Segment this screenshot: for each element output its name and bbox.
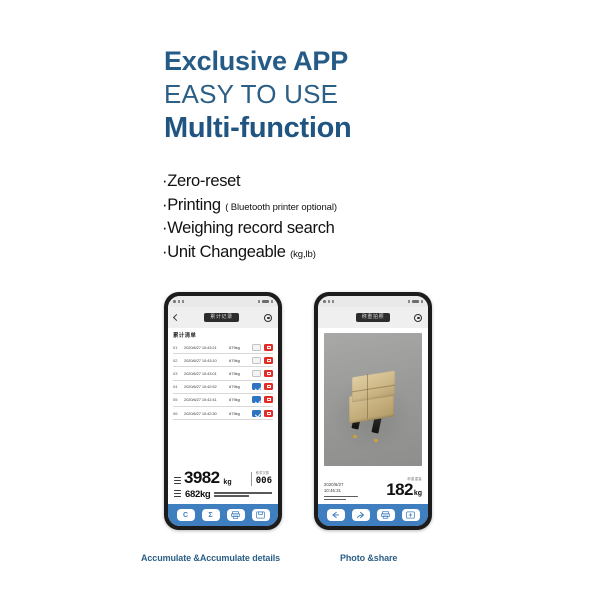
gear-icon[interactable] <box>264 314 272 322</box>
signal-bar-icon <box>178 300 180 303</box>
network-icon <box>421 300 423 303</box>
photo-info-panel: 2020/6/27 10:45:31 称重重量 182kg <box>318 471 428 504</box>
headline-line-3: Multi-function <box>164 110 351 146</box>
summary-sub-row: 682kg <box>174 489 272 500</box>
photo-date: 2020/6/27 <box>324 482 358 487</box>
sub-weight-value: 682kg <box>185 489 210 500</box>
phone-mockup-right: 称重拍照 2020/6/27 10:45:31 <box>314 292 432 530</box>
photo-meta: 2020/6/27 10:45:31 <box>324 482 358 500</box>
photo-weight-group: 称重重量 182kg <box>386 476 422 500</box>
row-index: 02 <box>173 358 181 363</box>
delete-button[interactable] <box>264 344 273 351</box>
alarm-icon <box>258 300 260 303</box>
total-weight-group: 3982 kg <box>174 470 232 486</box>
clear-c-icon[interactable]: C <box>177 509 195 521</box>
status-right-icons <box>258 300 273 304</box>
app-header-right: 称重拍照 <box>318 307 428 328</box>
app-title-right: 称重拍照 <box>356 313 390 322</box>
save-icon[interactable] <box>252 509 270 521</box>
table-row[interactable]: 04 2020/6/27 10:42:52 679kg <box>173 381 273 394</box>
screen-accumulate: 累计记录 累计清单 01 2020/6/27 10:43:21 679kg 02… <box>168 296 278 526</box>
photo-weight-row: 182kg <box>386 482 422 500</box>
share-arrow-icon[interactable] <box>352 509 370 521</box>
delete-button[interactable] <box>264 370 273 377</box>
row-datetime: 2020/6/27 10:42:30 <box>184 411 226 416</box>
row-datetime: 2020/6/27 10:43:01 <box>184 371 226 376</box>
table-row[interactable]: 01 2020/6/27 10:43:21 679kg <box>173 341 273 354</box>
row-checkbox[interactable] <box>252 370 261 377</box>
back-arrow-icon[interactable] <box>327 509 345 521</box>
table-row[interactable]: 05 2020/6/27 10:42:41 679kg <box>173 394 273 407</box>
screen-photo-share: 称重拍照 2020/6/27 10:45:31 <box>318 296 428 526</box>
row-index: 04 <box>173 384 181 389</box>
status-right-icons <box>408 300 423 304</box>
row-checkbox[interactable] <box>252 396 261 403</box>
printer-icon[interactable] <box>377 509 395 521</box>
bottom-toolbar-right <box>318 504 428 526</box>
row-weight: 679kg <box>229 371 249 376</box>
signal-dot-icon <box>173 300 176 303</box>
signal-dot-icon <box>323 300 326 303</box>
delete-button[interactable] <box>264 396 273 403</box>
scale-foot-icon <box>374 439 378 442</box>
sub-label-icon <box>174 490 181 497</box>
feature-label: Printing <box>167 196 221 214</box>
row-datetime: 2020/6/27 10:43:21 <box>184 345 226 350</box>
status-left-icons <box>323 300 334 303</box>
delete-button[interactable] <box>264 357 273 364</box>
status-bar <box>318 296 428 307</box>
row-weight: 679kg <box>229 397 249 402</box>
network-icon <box>271 300 273 303</box>
row-datetime: 2020/6/27 10:42:41 <box>184 397 226 402</box>
phone-mockup-left: 累计记录 累计清单 01 2020/6/27 10:43:21 679kg 02… <box>164 292 282 530</box>
wifi-icon <box>182 300 184 303</box>
gear-icon[interactable] <box>414 314 422 322</box>
feature-note: (kg,lb) <box>290 249 316 260</box>
caption-right: Photo &share <box>340 553 397 563</box>
chevron-left-icon[interactable] <box>173 314 180 321</box>
row-checkbox[interactable] <box>252 383 261 390</box>
feature-item-printing: ·Printing ( Bluetooth printer optional) <box>162 194 337 218</box>
photo-preview-wrap <box>318 328 428 471</box>
total-weight-value: 3982 <box>184 470 219 486</box>
status-bar <box>168 296 278 307</box>
list-title: 累计清单 <box>173 331 273 339</box>
row-checkbox[interactable] <box>252 344 261 351</box>
scale-foot-icon <box>353 435 357 438</box>
headline-line-1: Exclusive APP <box>164 45 351 78</box>
feature-label: Weighing record search <box>167 219 334 237</box>
row-index: 06 <box>173 411 181 416</box>
photo-weight-value: 182 <box>386 480 413 499</box>
summary-total-row: 3982 kg 称重次数 006 <box>174 470 272 486</box>
sigma-accumulate-icon[interactable]: Σ <box>202 509 220 521</box>
delete-button[interactable] <box>264 410 273 417</box>
row-checkbox[interactable] <box>252 410 261 417</box>
row-weight: 679kg <box>229 384 249 389</box>
photo-preview[interactable] <box>324 333 422 466</box>
feature-label: Zero-reset <box>167 172 240 190</box>
row-datetime: 2020/6/27 10:42:52 <box>184 384 226 389</box>
feature-label: Unit Changeable <box>167 243 285 261</box>
total-label-icon <box>174 477 181 484</box>
headline-line-2: EASY TO USE <box>164 78 351 111</box>
photo-note <box>324 496 358 500</box>
summary-note <box>214 492 272 496</box>
row-index: 03 <box>173 371 181 376</box>
add-photo-icon[interactable] <box>402 509 420 521</box>
wifi-icon <box>332 300 334 303</box>
feature-item-zero-reset: ·Zero-reset <box>162 170 337 194</box>
feature-item-unit-changeable: ·Unit Changeable (kg,lb) <box>162 241 337 265</box>
headline-block: Exclusive APP EASY TO USE Multi-function <box>164 45 351 147</box>
row-weight: 679kg <box>229 358 249 363</box>
feature-item-record-search: ·Weighing record search <box>162 217 337 241</box>
table-row[interactable]: 03 2020/6/27 10:43:01 679kg <box>173 367 273 380</box>
total-weight-unit: kg <box>223 479 231 486</box>
photo-weight-unit: kg <box>414 490 422 497</box>
table-row[interactable]: 06 2020/6/27 10:42:30 679kg <box>173 407 273 420</box>
row-index: 01 <box>173 345 181 350</box>
delete-button[interactable] <box>264 383 273 390</box>
accumulate-summary: 3982 kg 称重次数 006 682kg <box>168 465 278 504</box>
box-strap <box>367 374 368 419</box>
row-datetime: 2020/6/27 10:43:10 <box>184 358 226 363</box>
count-value: 006 <box>256 476 272 486</box>
printer-icon[interactable] <box>227 509 245 521</box>
count-group: 称重次数 006 <box>251 472 272 486</box>
table-row[interactable]: 02 2020/6/27 10:43:10 679kg <box>173 354 273 367</box>
alarm-icon <box>408 300 410 303</box>
row-weight: 679kg <box>229 411 249 416</box>
row-index: 05 <box>173 397 181 402</box>
feature-note: ( Bluetooth printer optional) <box>225 202 337 213</box>
caption-left: Accumulate &Accumulate details <box>141 553 280 563</box>
app-title-left: 累计记录 <box>204 313 238 322</box>
battery-icon <box>262 300 269 304</box>
signal-bar-icon <box>328 300 330 303</box>
battery-icon <box>412 300 419 304</box>
bottom-toolbar-left: C Σ <box>168 504 278 526</box>
photo-time: 10:45:31 <box>324 488 358 493</box>
feature-list: ·Zero-reset ·Printing ( Bluetooth printe… <box>162 170 337 265</box>
row-checkbox[interactable] <box>252 357 261 364</box>
app-header-left: 累计记录 <box>168 307 278 328</box>
promo-page: Exclusive APP EASY TO USE Multi-function… <box>0 0 600 600</box>
record-list[interactable]: 累计清单 01 2020/6/27 10:43:21 679kg 02 2020… <box>168 328 278 465</box>
status-left-icons <box>173 300 184 303</box>
row-weight: 679kg <box>229 345 249 350</box>
